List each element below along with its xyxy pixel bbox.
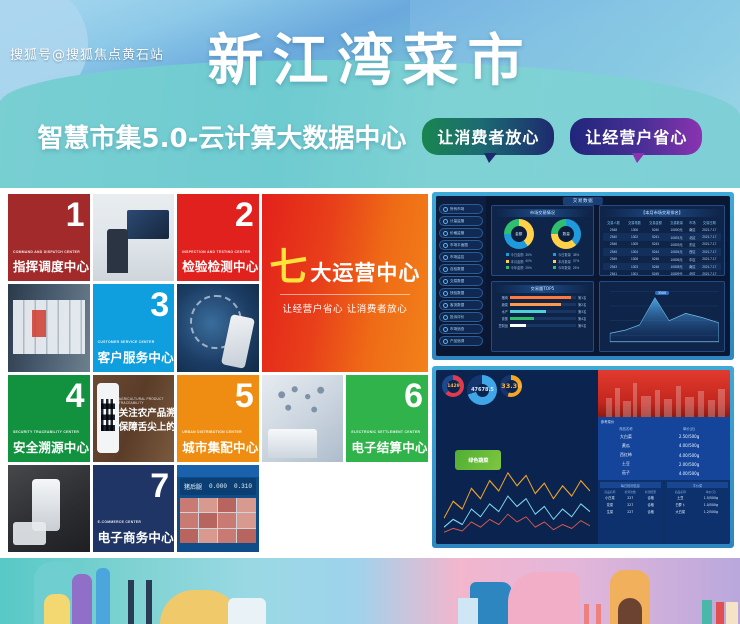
chat-icon: [443, 315, 448, 320]
pos-label: 猪后腿: [184, 482, 202, 491]
daily-check-table: 商品名称 检测次数 检测结果 小白菜227合格 花菜227合格 生菜227合格: [600, 489, 661, 515]
photo-printer: [8, 465, 90, 552]
donut-legends: 今日金额35% 本月金额40% 今年金额25% 今日数量38% 本月数量37% …: [495, 252, 590, 272]
watermark: 搜狐号@搜狐焦点黄石站: [10, 44, 164, 63]
center-cn-7: 电子商务中心: [98, 527, 170, 546]
sidebar-label: 市场平面图: [450, 243, 468, 248]
center-card-4[interactable]: 4 SECURITY TRACEABILITY CENTER 安全溯源中心: [8, 375, 90, 462]
center-en-1: COMMAND AND DISPATCH CENTER: [13, 250, 85, 255]
badge-merchant: 让经营户省心: [570, 118, 702, 155]
table-row: 大白菜2.50/500g: [601, 432, 727, 441]
sidebar-item-market-audit[interactable]: 市场追查: [439, 324, 483, 334]
donut-group: 金额 数量: [495, 219, 590, 249]
card-ranking-table: 【本月市场交易排名】 交易人数 交易笔数 交易金额 交易数量 市场 交易日期: [599, 205, 725, 276]
cheap-title: 平价菜: [667, 482, 728, 488]
kpi-row: 1429 47678.5 33.36: [442, 375, 591, 405]
flask-icon: [443, 267, 448, 272]
sidebar-item-price[interactable]: 价格监管: [439, 228, 483, 238]
dashboard-a-left-col: 市场交易情况 金额 数量 今日金额35% 本: [491, 205, 594, 352]
photo-pos-terminal: 猪后腿 0.000 0.310: [177, 465, 259, 552]
figure-white-skirt: [228, 598, 266, 624]
photo-video-wall: [8, 284, 90, 371]
badge-merchant-label: 让经营户省心: [585, 128, 687, 147]
qr-photo-en: AGRICULTURAL PRODUCT TRACEABILITY: [119, 397, 171, 405]
center-number-4: 4: [66, 379, 85, 413]
center-number-6: 6: [404, 379, 423, 413]
card-title: 市场交易情况: [495, 209, 590, 217]
card-title: 【本月市场交易排名】: [603, 209, 721, 217]
table-row: 大白菜1.2/500g: [667, 508, 728, 515]
table-row: 25481306524010800元南区2021.7.17: [603, 226, 721, 233]
bar-row: 禽蛋 第4名: [495, 316, 590, 321]
pos-readout: 猪后腿 0.000 0.310: [180, 478, 255, 495]
daily-check-table-card: 每日检测信息 商品名称 检测次数 检测结果 小白菜227合格 花菜227合格 生…: [598, 480, 663, 544]
kpi-donut-center: 47678.5: [467, 375, 497, 405]
table-row: 花菜227合格: [600, 501, 661, 508]
user-icon: [443, 303, 448, 308]
seven-title: 七 大运营中心: [269, 250, 420, 287]
center-en-2: INSPECTION AND TESTING CENTER: [182, 250, 254, 255]
badge-consumer: 让消费者放心: [422, 118, 554, 155]
pos-weight: 0.000: [209, 483, 227, 490]
grid-icon: [443, 207, 448, 212]
table-row: 西红柿4.00/500g: [601, 451, 727, 460]
sidebar-label: 产品追溯: [450, 339, 464, 344]
donut-quantity: 数量: [551, 219, 581, 249]
center-card-2[interactable]: 2 INSPECTION AND TESTING CENTER 检验检测中心: [177, 194, 259, 281]
sidebar-label: 快检数据: [450, 291, 464, 296]
sidebar-item-complaints[interactable]: 投诉评价: [439, 312, 483, 322]
sidebar-item-footfall[interactable]: 客流数据: [439, 300, 483, 310]
figure-red-a: [584, 604, 589, 624]
page-subtitle: 智慧市集5.0-云计算大数据中心: [38, 118, 407, 155]
card-title: 交易量TOP5: [495, 285, 590, 293]
table-row: 25411301524910809元北区2021.7.17: [603, 270, 721, 276]
badge-consumer-label: 让消费者放心: [437, 128, 539, 147]
sidebar-item-floorplan[interactable]: 市场平面图: [439, 240, 483, 250]
center-cn-4: 安全溯源中心: [13, 437, 85, 456]
kpi-donut-left: 1429: [442, 375, 464, 397]
price-card-title: 参考菜价: [601, 419, 727, 424]
table-row: 25451304524410804元西区2021.7.17: [603, 248, 721, 255]
sidebar-label: 投诉评价: [450, 315, 464, 320]
qr-photo-line2: 保障舌尖上的安全: [119, 421, 171, 435]
figure-blue-a: [96, 568, 110, 624]
center-card-7[interactable]: 7 E-COMMERCE CENTER 电子商务中心: [93, 465, 175, 552]
qr-photo-text: AGRICULTURAL PRODUCT TRACEABILITY 关注农产品溯…: [119, 397, 171, 435]
table-row: 土豆2.00/500g: [601, 460, 727, 469]
legend-item: 今日金额35%: [506, 252, 532, 257]
subtitle-row: 智慧市集5.0-云计算大数据中心 让消费者放心 让经营户省心: [0, 118, 740, 155]
sidebar-item-transactions[interactable]: 交易数据: [439, 276, 483, 286]
reference-price-card: 参考菜价 商品名称 单价(元) 大白菜2.50/500g 黄瓜4.00/500g…: [598, 417, 730, 480]
photo-command-room: [93, 194, 175, 281]
center-number-2: 2: [235, 198, 254, 232]
city-skyline-banner: [598, 370, 730, 417]
table-row: 茄子4.00/500g: [601, 469, 727, 478]
dashboard-b-left: 1429 47678.5 33.36 绿色蔬菜: [436, 370, 598, 544]
top5-bars: 猪肉 第1名 蔬菜 第2名 水产: [495, 295, 590, 328]
pos-titlebar: [177, 465, 259, 477]
figure-red-c: [716, 602, 724, 624]
table-row: 生菜227合格: [600, 508, 661, 515]
figure-red-b: [596, 604, 601, 624]
sidebar-label: 价格监管: [450, 231, 464, 236]
sidebar-item-all-markets[interactable]: 所有市场: [439, 204, 483, 214]
trend-mini-chart: [441, 447, 593, 537]
figure-yellow: [44, 594, 70, 624]
figure-pale-blue: [458, 598, 478, 624]
center-number-3: 3: [150, 288, 169, 322]
sidebar-label: 市场监控: [450, 255, 464, 260]
cheap-table: 商品名称 单价(元) 土豆1.5/500g 白萝卜1.0/500g 大白菜1.2…: [667, 489, 728, 515]
phone-mockup: [97, 383, 118, 453]
sidebar-label: 交易数据: [450, 279, 464, 284]
divider: [280, 294, 410, 295]
donut-quantity-label: 数量: [563, 232, 570, 237]
table-row: 黄瓜4.00/500g: [601, 441, 727, 450]
figure-dark-b: [146, 580, 152, 624]
center-en-5: URBAN DISTRIBUTION CENTER: [182, 430, 254, 435]
center-card-6[interactable]: 6 ELECTRONIC SETTLEMENT CENTER 电子结算中心: [346, 375, 428, 462]
center-cn-2: 检验检测中心: [182, 256, 254, 275]
sidebar-label: 市场追查: [450, 327, 464, 332]
kpi-donut-right: 33.36: [500, 375, 522, 397]
dashboard-a-main: 市场交易情况 金额 数量 今日金额35% 本: [486, 196, 730, 356]
dashboard-a-sidebar: 所有市场 计量监管 价格监管 市场平面图 市场监控: [436, 196, 486, 356]
figure-hair: [618, 598, 642, 624]
camera-icon: [443, 255, 448, 260]
centers-grid: 1 COMMAND AND DISPATCH CENTER 指挥调度中心 2 I…: [8, 194, 428, 552]
daily-check-title: 每日检测信息: [600, 482, 661, 488]
qr-photo-line1: 关注农产品溯源: [119, 407, 171, 421]
chart-icon: [443, 279, 448, 284]
center-en-7: E-COMMERCE CENTER: [98, 520, 170, 525]
dashboard-b-right: 参考菜价 商品名称 单价(元) 大白菜2.50/500g 黄瓜4.00/500g…: [598, 370, 730, 544]
photo-network-laptop: [262, 375, 344, 462]
scale-icon: [443, 219, 448, 224]
table-row: 25431303524810808元南区2021.7.17: [603, 263, 721, 270]
map-icon: [443, 243, 448, 248]
center-number-7: 7: [150, 469, 169, 503]
dashboard-b-screen: 1429 47678.5 33.36 绿色蔬菜: [436, 370, 730, 544]
legend-item: 本月数量37%: [553, 259, 579, 264]
area-chart: 3500: [603, 285, 721, 348]
photo-traceability-qr: AGRICULTURAL PRODUCT TRACEABILITY 关注农产品溯…: [93, 375, 175, 462]
seven-centers-panel: 七 大运营中心 让经营户省心 让消费者放心: [262, 194, 428, 372]
sidebar-item-traceability[interactable]: 产品追溯: [439, 336, 483, 346]
legend-left: 今日金额35% 本月金额40% 今年金额25%: [506, 252, 532, 272]
bar-row: 蔬菜 第2名: [495, 302, 590, 307]
legend-item: 今年金额25%: [506, 265, 532, 270]
bar-row: 猪肉 第1名: [495, 295, 590, 300]
figure-pink-dress: [508, 572, 580, 624]
center-card-1[interactable]: 1 COMMAND AND DISPATCH CENTER 指挥调度中心: [8, 194, 90, 281]
pos-product-grid: [180, 498, 255, 543]
footer-illustration: [0, 558, 740, 624]
cheap-vegetable-table-card: 平价菜 商品名称 单价(元) 土豆1.5/500g 白萝卜1.0/500g 大白…: [665, 480, 730, 544]
bar-row: 豆制品 第5名: [495, 323, 590, 328]
tag-icon: [443, 231, 448, 236]
card-trend-area: 3500: [599, 281, 725, 352]
content-area: 1 COMMAND AND DISPATCH CENTER 指挥调度中心 2 I…: [0, 188, 740, 558]
photo-iot-phone: [177, 284, 259, 371]
table-row: 小白菜227合格: [600, 494, 661, 501]
table-header-row: 商品名称 单价(元): [601, 425, 727, 432]
header-banner: 新江湾菜市 智慧市集5.0-云计算大数据中心 让消费者放心 让经营户省心: [0, 0, 740, 188]
dashboard-a-screen: 交易数据 所有市场 计量监管 价格监管 市场平面图: [436, 196, 730, 356]
sidebar-item-metering[interactable]: 计量监管: [439, 216, 483, 226]
legend-item: 今日数量38%: [553, 252, 579, 257]
center-en-4: SECURITY TRACEABILITY CENTER: [13, 430, 85, 435]
figure-teal-b: [702, 600, 712, 624]
figure-cream: [726, 602, 738, 624]
seven-slogan: 让经营户省心 让消费者放心: [282, 301, 407, 315]
sidebar-label: 计量监管: [450, 219, 464, 224]
ranking-table: 交易人数 交易笔数 交易金额 交易数量 市场 交易日期 254813065240…: [603, 219, 721, 276]
clock-icon: [443, 291, 448, 296]
dashboard-screen-top: 交易数据 所有市场 计量监管 价格监管 市场平面图: [432, 192, 734, 360]
center-card-3[interactable]: 3 CUSTOMER SERVICE CENTER 客户服务中心: [93, 284, 175, 371]
legend-item: 本月金额40%: [506, 259, 532, 264]
legend-item: 今年数量25%: [553, 265, 579, 270]
table-row: 白萝卜1.0/500g: [667, 501, 728, 508]
donut-amount: 金额: [504, 219, 534, 249]
table-row: 25461305524310803元东区2021.7.17: [603, 241, 721, 248]
legend-right: 今日数量38% 本月数量37% 今年数量25%: [553, 252, 579, 272]
price-table: 商品名称 单价(元) 大白菜2.50/500g 黄瓜4.00/500g 西红柿4…: [601, 425, 727, 478]
search-icon: [443, 327, 448, 332]
box-icon: [443, 339, 448, 344]
dashboard-a-right-col: 【本月市场交易排名】 交易人数 交易笔数 交易金额 交易数量 市场 交易日期: [599, 205, 725, 352]
table-row: 25401302524110801元北区2021.7.17: [603, 233, 721, 240]
area-peak-label: 3500: [655, 291, 669, 295]
seven-numeral: 七: [269, 250, 307, 285]
center-en-3: CUSTOMER SERVICE CENTER: [98, 340, 170, 345]
sidebar-label: 客流数据: [450, 303, 464, 308]
center-card-5[interactable]: 5 URBAN DISTRIBUTION CENTER 城市集配中心: [177, 375, 259, 462]
sidebar-label: 所有市场: [450, 207, 464, 212]
dashboard-a-tab[interactable]: 交易数据: [563, 197, 603, 205]
dashboard-screen-bottom: 1429 47678.5 33.36 绿色蔬菜: [432, 366, 734, 548]
qr-code-icon: [101, 399, 115, 431]
table-header-row: 商品名称 检测次数 检测结果: [600, 489, 661, 494]
center-cn-3: 客户服务中心: [98, 347, 170, 366]
card-top5: 交易量TOP5 猪肉 第1名 蔬菜 第2名: [491, 281, 594, 352]
donut-amount-label: 金额: [515, 232, 522, 237]
sidebar-item-quickcheck[interactable]: 快检数据: [439, 288, 483, 298]
seven-title-rest: 大运营中心: [310, 257, 420, 287]
center-cn-5: 城市集配中心: [182, 437, 254, 456]
figure-dark-a: [128, 580, 134, 624]
lower-tables: 每日检测信息 商品名称 检测次数 检测结果 小白菜227合格 花菜227合格 生…: [598, 480, 730, 544]
table-header-row: 交易人数 交易笔数 交易金额 交易数量 市场 交易日期: [603, 219, 721, 226]
pos-price: 0.310: [234, 483, 252, 490]
mini-chart-svg: [441, 447, 593, 537]
sidebar-item-selfcheck[interactable]: 自检数据: [439, 264, 483, 274]
center-number-5: 5: [235, 379, 254, 413]
center-en-6: ELECTRONIC SETTLEMENT CENTER: [351, 430, 423, 435]
center-cn-6: 电子结算中心: [351, 437, 423, 456]
card-market-transactions: 市场交易情况 金额 数量 今日金额35% 本: [491, 205, 594, 276]
center-number-1: 1: [66, 198, 85, 232]
table-row: 25491308524610806元中区2021.7.17: [603, 256, 721, 263]
center-cn-1: 指挥调度中心: [13, 256, 85, 275]
figure-purple: [72, 574, 92, 624]
table-row: 土豆1.5/500g: [667, 494, 728, 501]
sidebar-item-monitoring[interactable]: 市场监控: [439, 252, 483, 262]
sidebar-label: 自检数据: [450, 267, 464, 272]
bar-row: 水产 第3名: [495, 309, 590, 314]
